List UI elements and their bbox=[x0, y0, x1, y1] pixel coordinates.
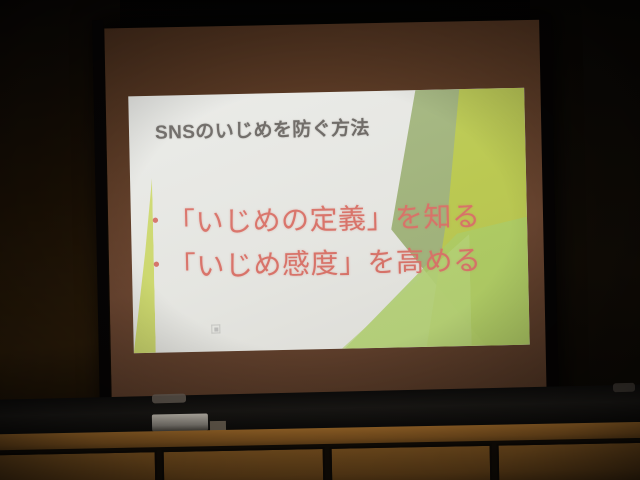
roller-knob-left bbox=[152, 394, 186, 404]
roller-knob-right bbox=[613, 383, 635, 393]
bullet-item: ・ 「いじめの定義」を知る bbox=[143, 195, 481, 242]
bullet-marker-icon: ・ bbox=[143, 209, 156, 234]
projected-slide: SNSのいじめを防ぐ方法 ・ 「いじめの定義」を知る ・ 「いじめ感度」を高める bbox=[128, 88, 530, 354]
bullet-marker-icon: ・ bbox=[144, 253, 157, 278]
photo-canvas: SNSのいじめを防ぐ方法 ・ 「いじめの定義」を知る ・ 「いじめ感度」を高める bbox=[0, 0, 640, 480]
cabinet-panel bbox=[497, 441, 640, 480]
bullet-text: 「いじめの定義」を知る bbox=[167, 195, 481, 242]
cabinet-panel bbox=[329, 444, 493, 480]
bullet-item: ・ 「いじめ感度」を高める bbox=[144, 239, 482, 286]
slide-title: SNSのいじめを防ぐ方法 bbox=[155, 113, 370, 145]
bullet-text: 「いじめ感度」を高める bbox=[168, 239, 482, 286]
projector-device bbox=[152, 413, 208, 431]
presentation-control-icon[interactable] bbox=[211, 324, 220, 333]
cabinet-panel bbox=[0, 450, 157, 480]
slide-bullet-list: ・ 「いじめの定義」を知る ・ 「いじめ感度」を高める bbox=[143, 195, 482, 290]
cabinet-panel bbox=[161, 447, 325, 480]
